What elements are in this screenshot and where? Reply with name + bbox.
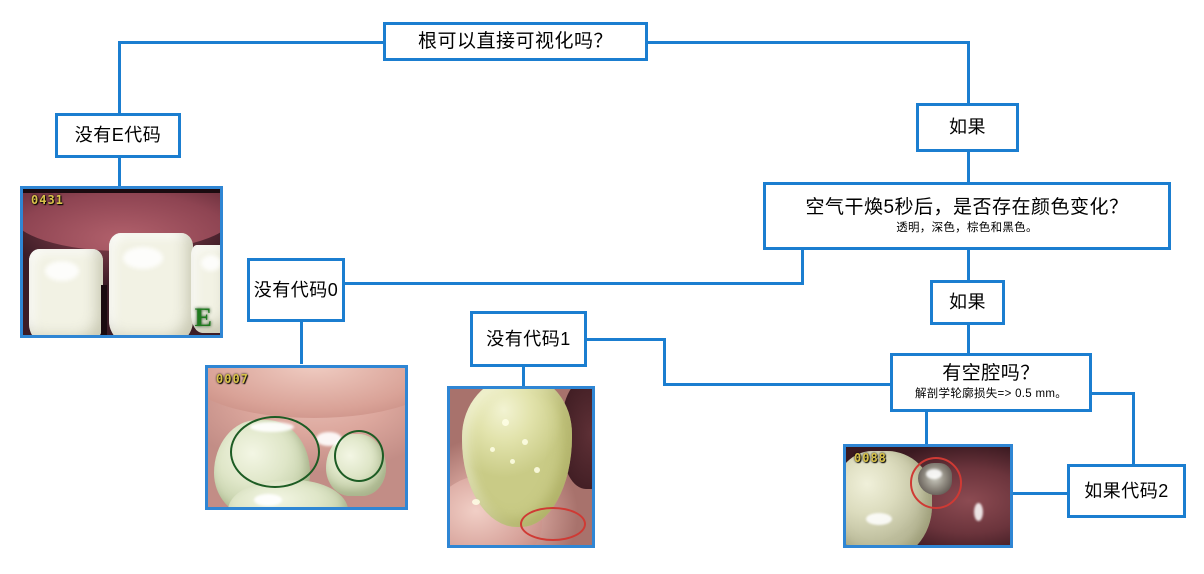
tissue-highlight [974, 503, 983, 521]
connector-if-top-to-color-question [967, 152, 970, 182]
connector-cavity-question-to-no-code-1-horizontal-upper [587, 338, 666, 341]
tooth-highlight-2 [123, 247, 163, 269]
connector-color-question-to-no-code-0-horizontal [345, 282, 804, 285]
node-color-change-question-label: 空气干煥5秒后，是否存在颜色变化？ [805, 197, 1128, 219]
connector-root-to-if-top-horizontal [648, 41, 970, 44]
connector-no-code-0-to-photo [300, 322, 303, 364]
connector-color-question-to-if-middle [967, 250, 970, 280]
node-color-change-question-sub: 透明，深色，棕色和黑色。 [896, 222, 1038, 236]
cavity-photo-content: 0088 [846, 447, 1010, 545]
node-no-code-1[interactable]: 没有代码1 [470, 311, 587, 367]
annotation-circle-green-1 [230, 416, 320, 488]
enamel-sparkle-3 [254, 494, 282, 506]
node-if-code-2[interactable]: 如果代码2 [1067, 464, 1186, 518]
node-cavity-question-sub: 解剖学轮廓损失=> 0.5 mm。 [915, 388, 1067, 402]
occlusal-photo-content: 0007 [208, 368, 405, 507]
photo-corner-letter-e: E [195, 303, 212, 333]
node-cavity-question[interactable]: 有空腔吗？ 解剖学轮廓损失=> 0.5 mm。 [890, 353, 1092, 412]
node-cavity-question-label: 有空腔吗？ [942, 363, 1040, 385]
photo-tag-label: 0088 [854, 451, 887, 465]
connector-color-question-to-no-code-0-vertical [801, 250, 804, 282]
node-root-question-label: 根可以直接可视化吗？ [418, 31, 613, 53]
connector-cavity-question-to-photo [925, 412, 928, 444]
yellow-tooth-photo-content [450, 389, 592, 545]
tooth-highlight-1 [45, 261, 79, 281]
molar-highlight [866, 513, 892, 525]
connector-cavity-question-to-no-code-1-horizontal-lower [663, 383, 890, 386]
enamel-speck-1 [502, 419, 509, 426]
connector-if-middle-to-cavity-question [967, 325, 970, 353]
interdental-gap [101, 285, 107, 335]
node-no-code-0[interactable]: 没有代码0 [247, 258, 345, 322]
enamel-speck-5 [490, 447, 495, 452]
cavity-molar-photo[interactable]: 0088 [843, 444, 1013, 548]
occlusal-green-circles-photo[interactable]: 0007 [205, 365, 408, 510]
connector-cavity-question-to-if-code-2-vertical [1132, 392, 1135, 464]
enamel-speck-3 [510, 459, 515, 464]
connector-root-to-if-top-vertical [967, 41, 970, 103]
node-color-change-question[interactable]: 空气干煥5秒后，是否存在颜色变化？ 透明，深色，棕色和黑色。 [763, 182, 1171, 250]
node-no-e-code[interactable]: 没有E代码 [55, 113, 181, 158]
node-root-question[interactable]: 根可以直接可视化吗？ [383, 22, 648, 61]
connector-cavity-question-to-no-code-1-vertical [663, 338, 666, 386]
flowchart-canvas: 0431 E 0007 [0, 0, 1204, 574]
connector-root-to-no-e-code-vertical [118, 41, 121, 113]
annotation-ellipse-red [520, 507, 586, 541]
enamel-speck-2 [522, 439, 528, 445]
photo-tag-label: 0431 [31, 193, 64, 207]
anterior-teeth-photo-content: 0431 E [23, 189, 220, 335]
node-if-code-2-label: 如果代码2 [1084, 481, 1169, 502]
node-if-top-label: 如果 [949, 117, 986, 138]
yellow-tooth-photo[interactable] [447, 386, 595, 548]
annotation-circle-green-2 [334, 430, 384, 482]
annotation-circle-red [910, 457, 962, 509]
photo-tag-label: 0007 [216, 372, 249, 386]
node-if-middle-label: 如果 [949, 292, 986, 313]
node-no-code-0-label: 没有代码0 [254, 280, 339, 301]
connector-photo-cavity-to-if-code-2 [1013, 492, 1068, 495]
node-no-e-code-label: 没有E代码 [75, 125, 162, 146]
connector-no-code-1-to-photo [522, 367, 525, 387]
tooth-highlight-3 [201, 255, 220, 271]
anterior-teeth-photo[interactable]: 0431 E [20, 186, 223, 338]
node-if-top[interactable]: 如果 [916, 103, 1019, 152]
node-if-middle[interactable]: 如果 [930, 280, 1005, 325]
connector-cavity-question-to-if-code-2-horizontal [1092, 392, 1135, 395]
connector-no-e-code-to-photo [118, 158, 121, 188]
enamel-speck-6 [472, 499, 480, 505]
connector-root-to-no-e-code-horizontal [118, 41, 383, 44]
node-no-code-1-label: 没有代码1 [486, 329, 571, 350]
enamel-speck-4 [534, 467, 540, 473]
